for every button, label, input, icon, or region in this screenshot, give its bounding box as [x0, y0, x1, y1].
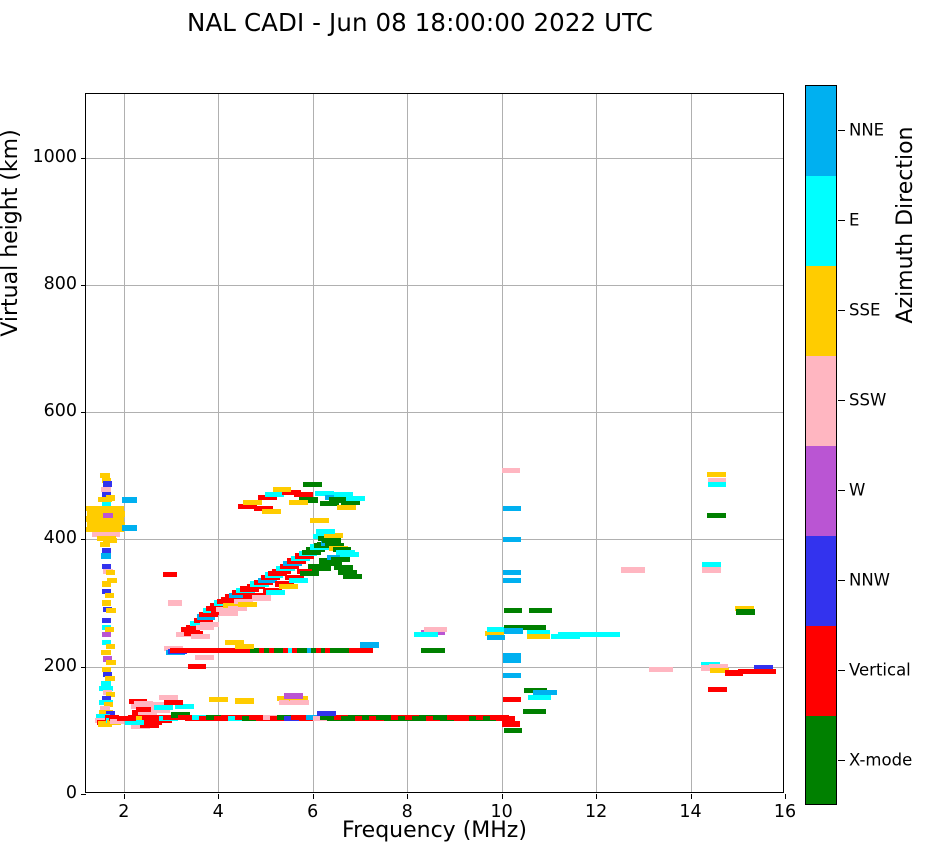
gridline-horizontal	[86, 539, 783, 540]
echo-mark	[707, 513, 726, 518]
echo-mark	[117, 716, 136, 721]
echo-mark	[708, 482, 727, 487]
echo-mark	[104, 519, 113, 524]
colorbar	[805, 85, 837, 805]
echo-mark	[421, 648, 445, 653]
echo-mark	[310, 518, 329, 523]
gridline-horizontal	[86, 412, 783, 413]
colorbar-tick	[838, 760, 845, 761]
echo-mark	[360, 642, 379, 647]
echo-mark	[122, 525, 136, 530]
figure-title: NAL CADI - Jun 08 18:00:00 2022 UTC	[0, 8, 840, 37]
y-tick-label: 0	[0, 783, 77, 803]
echo-mark	[154, 705, 173, 710]
echo-mark	[757, 669, 776, 674]
x-tick	[407, 794, 408, 799]
colorbar-label-nnw: NNW	[849, 571, 890, 590]
echo-mark	[106, 570, 115, 575]
colorbar-label-vertical: Vertical	[849, 661, 911, 680]
echo-mark	[102, 618, 111, 623]
echo-mark	[503, 506, 522, 511]
gridline-horizontal	[86, 158, 783, 159]
echo-mark	[527, 634, 551, 639]
y-tick	[81, 285, 86, 286]
echo-mark	[284, 693, 303, 698]
echo-mark	[209, 697, 228, 702]
x-tick	[313, 794, 314, 799]
colorbar-segment-nne	[806, 86, 836, 177]
colorbar-segment-e	[806, 176, 836, 267]
colorbar-tick	[838, 130, 845, 131]
y-tick	[81, 158, 86, 159]
echo-mark	[103, 513, 112, 518]
echo-mark	[105, 593, 114, 598]
gridline-vertical	[407, 94, 408, 792]
echo-mark	[235, 698, 254, 703]
echo-mark	[316, 529, 335, 534]
colorbar-tick	[838, 220, 845, 221]
gridline-vertical	[124, 94, 125, 792]
echo-mark	[106, 608, 115, 613]
x-tick	[691, 794, 692, 799]
echo-mark	[106, 495, 115, 500]
echo-mark	[504, 728, 523, 733]
x-axis-title: Frequency (MHz)	[85, 818, 784, 843]
echo-mark	[725, 670, 744, 675]
echo-mark	[300, 571, 319, 576]
echo-mark	[188, 664, 207, 669]
echo-mark	[163, 572, 177, 577]
ionogram-figure: NAL CADI - Jun 08 18:00:00 2022 UTC 2468…	[0, 0, 951, 856]
echo-mark	[591, 632, 619, 637]
colorbar-label-w: W	[849, 481, 865, 500]
echo-mark	[343, 574, 362, 579]
echo-mark	[303, 482, 322, 487]
colorbar-label-nne: NNE	[849, 121, 884, 140]
echo-mark	[289, 578, 308, 583]
echo-mark	[108, 538, 117, 543]
echo-mark	[279, 584, 298, 589]
colorbar-segment-nnw	[806, 536, 836, 627]
echo-mark	[317, 711, 336, 716]
plot-axes: 24681012141602004006008001000	[85, 93, 784, 793]
echo-mark	[529, 608, 553, 613]
colorbar-tick	[838, 670, 845, 671]
echo-mark	[349, 648, 373, 653]
echo-mark	[273, 487, 292, 492]
echo-mark	[322, 538, 341, 543]
echo-mark	[702, 567, 721, 572]
x-tick	[218, 794, 219, 799]
echo-mark	[414, 632, 438, 637]
echo-mark	[101, 553, 110, 558]
echo-mark	[195, 655, 214, 660]
echo-mark	[504, 628, 523, 633]
colorbar-tick	[838, 310, 845, 311]
colorbar-segment-vertical	[806, 626, 836, 717]
x-tick	[596, 794, 597, 799]
colorbar-segment-sse	[806, 266, 836, 357]
colorbar-tick	[838, 400, 845, 401]
echo-mark	[168, 600, 182, 605]
echo-mark	[191, 634, 210, 639]
echo-mark	[503, 697, 522, 702]
echo-mark	[159, 695, 178, 700]
colorbar-label-ssw: SSW	[849, 391, 886, 410]
echo-mark	[266, 590, 285, 595]
echo-mark	[312, 566, 331, 571]
y-tick-label: 400	[0, 528, 77, 548]
echo-mark	[289, 500, 308, 505]
y-tick	[81, 667, 86, 668]
gridline-vertical	[596, 94, 597, 792]
echo-mark	[243, 500, 262, 505]
echo-mark	[262, 509, 281, 514]
echo-mark	[503, 673, 522, 678]
echo-mark	[487, 635, 506, 640]
echo-mark	[252, 595, 271, 600]
echo-mark	[523, 709, 547, 714]
echo-mark	[101, 650, 110, 655]
echo-mark	[290, 700, 309, 705]
echo-mark	[102, 581, 111, 586]
echo-mark	[503, 578, 522, 583]
echo-mark	[346, 496, 365, 501]
echo-mark	[164, 700, 183, 705]
gridline-vertical	[218, 94, 219, 792]
echo-mark	[502, 721, 521, 726]
x-tick	[502, 794, 503, 799]
y-axis-title: Virtual height (km)	[0, 23, 23, 443]
echo-mark	[102, 632, 111, 637]
colorbar-tick	[838, 490, 845, 491]
gridline-vertical	[313, 94, 314, 792]
y-tick	[81, 539, 86, 540]
echo-mark	[219, 611, 238, 616]
gridline-vertical	[691, 94, 692, 792]
echo-mark	[503, 658, 522, 663]
echo-mark	[103, 481, 112, 486]
echo-mark	[503, 537, 522, 542]
colorbar-segment-w	[806, 446, 836, 537]
y-tick	[81, 412, 86, 413]
echo-mark	[106, 644, 115, 649]
gridline-horizontal	[86, 285, 783, 286]
colorbar-segment-ssw	[806, 356, 836, 447]
echo-mark	[736, 609, 755, 614]
echo-mark	[528, 695, 552, 700]
echo-mark	[502, 468, 521, 473]
echo-mark	[122, 497, 136, 502]
echo-mark	[503, 570, 522, 575]
colorbar-tick	[838, 580, 845, 581]
echo-mark	[107, 525, 116, 530]
x-tick	[785, 794, 786, 799]
echo-mark	[106, 660, 115, 665]
echo-mark	[200, 622, 219, 627]
echo-mark	[649, 667, 673, 672]
echo-mark	[707, 472, 726, 477]
echo-mark	[238, 602, 257, 607]
gridline-vertical	[502, 94, 503, 792]
y-tick-label: 200	[0, 656, 77, 676]
echo-mark	[331, 557, 350, 562]
colorbar-title: Azimuth Direction	[893, 45, 918, 405]
echo-mark	[340, 552, 359, 557]
x-tick	[124, 794, 125, 799]
plot-area	[86, 94, 783, 792]
colorbar-label-e: E	[849, 211, 859, 230]
echo-mark	[320, 501, 339, 506]
echo-mark	[558, 632, 586, 637]
echo-mark	[621, 567, 645, 572]
colorbar-label-x-mode: X-mode	[849, 751, 912, 770]
echo-mark	[504, 608, 523, 613]
echo-mark	[235, 644, 254, 649]
echo-mark	[337, 505, 356, 510]
colorbar-label-sse: SSE	[849, 301, 880, 320]
echo-mark	[708, 687, 727, 692]
echo-mark	[424, 627, 448, 632]
echo-mark	[102, 600, 111, 605]
colorbar-segment-x-mode	[806, 716, 836, 805]
y-tick	[81, 794, 86, 795]
